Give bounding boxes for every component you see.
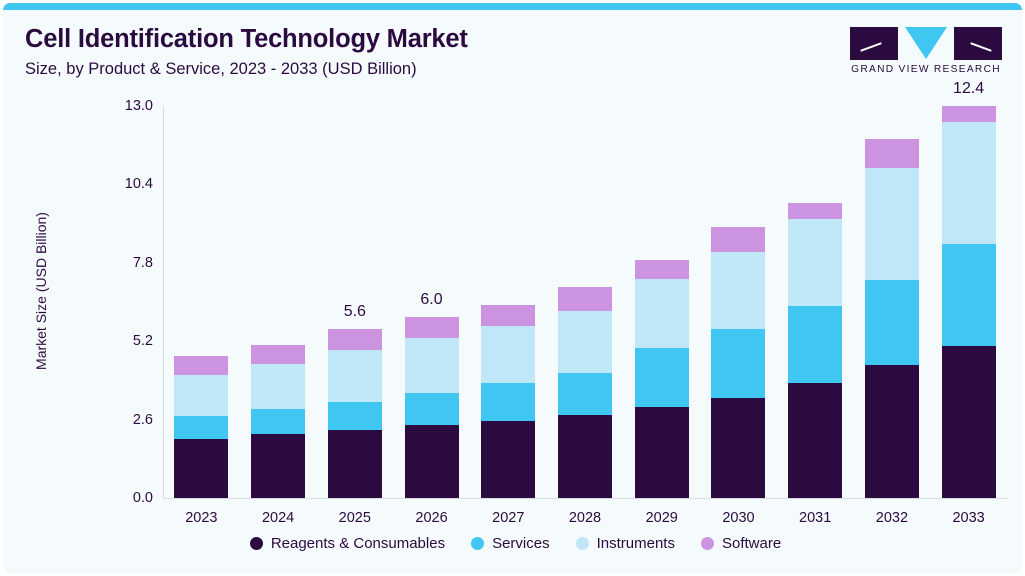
x-axis-tick-label: 2031 <box>775 510 855 526</box>
logo-text: GRAND VIEW RESEARCH <box>850 64 1002 75</box>
legend-label: Reagents & Consumables <box>271 535 445 552</box>
bar-segment[interactable] <box>481 305 535 326</box>
x-axis-tick-label: 2029 <box>622 510 702 526</box>
legend-item[interactable]: Instruments <box>576 535 675 552</box>
bar-segment[interactable] <box>405 393 459 425</box>
bar-segment[interactable] <box>711 398 765 498</box>
bar-segment[interactable] <box>942 346 996 498</box>
y-axis-tick-label: 2.6 <box>99 412 153 428</box>
legend-item[interactable]: Reagents & Consumables <box>250 535 445 552</box>
legend-color-swatch-icon <box>471 537 484 550</box>
chart-subtitle: Size, by Product & Service, 2023 - 2033 … <box>25 60 745 79</box>
bar-segment[interactable] <box>711 329 765 398</box>
x-axis-line <box>163 498 1007 499</box>
legend-color-swatch-icon <box>250 537 263 550</box>
logo-triangle-icon <box>905 27 947 59</box>
y-axis-tick-label: 7.8 <box>99 255 153 271</box>
bar-segment[interactable] <box>788 219 842 306</box>
bar-segment[interactable] <box>942 244 996 346</box>
bar-segment[interactable] <box>558 373 612 416</box>
bar-segment[interactable] <box>174 416 228 440</box>
y-axis-tick-labels: 0.02.65.27.810.413.0 <box>99 98 153 498</box>
bar-segment[interactable] <box>942 122 996 244</box>
bar-segment[interactable] <box>174 356 228 374</box>
x-axis-tick-label: 2024 <box>238 510 318 526</box>
bar-group[interactable] <box>788 203 842 499</box>
bar-segment[interactable] <box>481 421 535 498</box>
bar-segment[interactable] <box>635 260 689 280</box>
legend-label: Instruments <box>597 535 675 552</box>
bar-segment[interactable] <box>788 306 842 383</box>
bar-segment[interactable] <box>174 439 228 498</box>
x-axis-tick-label: 2033 <box>929 510 1009 526</box>
chart-legend: Reagents & ConsumablesServicesInstrument… <box>3 535 1025 552</box>
legend-color-swatch-icon <box>701 537 714 550</box>
bar-segment[interactable] <box>251 434 305 498</box>
bar-segment[interactable] <box>635 348 689 407</box>
x-axis-tick-label: 2030 <box>698 510 778 526</box>
bar-group[interactable] <box>558 287 612 498</box>
bar-segment[interactable] <box>405 338 459 393</box>
bar-group[interactable] <box>405 317 459 498</box>
legend-item[interactable]: Services <box>471 535 550 552</box>
bar-segment[interactable] <box>174 375 228 416</box>
bar-segment[interactable] <box>711 227 765 253</box>
bar-segment[interactable] <box>251 364 305 408</box>
logo-right-block-icon <box>954 27 1002 60</box>
bar-segment[interactable] <box>635 407 689 498</box>
bar-segment[interactable] <box>711 252 765 329</box>
x-axis-tick-label: 2027 <box>468 510 548 526</box>
plot-area: Market Size (USD Billion) 0.02.65.27.810… <box>3 98 1025 518</box>
bar-value-label: 6.0 <box>392 291 472 309</box>
legend-color-swatch-icon <box>576 537 589 550</box>
bar-segment[interactable] <box>328 350 382 402</box>
bar-segment[interactable] <box>481 326 535 383</box>
bar-value-label: 5.6 <box>315 303 395 321</box>
bar-group[interactable] <box>942 106 996 498</box>
bar-group[interactable] <box>865 139 919 498</box>
top-accent-bar <box>3 3 1025 10</box>
chart-card: Cell Identification Technology Market Si… <box>0 0 1025 576</box>
bar-segment[interactable] <box>558 415 612 498</box>
chart-title: Cell Identification Technology Market <box>25 25 745 54</box>
bar-segment[interactable] <box>328 329 382 350</box>
logo-left-block-icon <box>850 27 898 60</box>
x-axis-tick-label: 2025 <box>315 510 395 526</box>
bar-segment[interactable] <box>942 106 996 122</box>
bar-series-container: 5.66.012.4 <box>163 98 1007 498</box>
bar-segment[interactable] <box>405 317 459 338</box>
bar-segment[interactable] <box>788 383 842 498</box>
logo-marks <box>850 27 1002 60</box>
x-axis-tick-label: 2026 <box>392 510 472 526</box>
grand-view-research-logo: GRAND VIEW RESEARCH <box>850 27 1002 79</box>
bar-segment[interactable] <box>558 311 612 373</box>
bar-value-label: 12.4 <box>929 80 1009 98</box>
bar-group[interactable] <box>328 329 382 498</box>
x-axis-tick-label: 2032 <box>852 510 932 526</box>
legend-label: Services <box>492 535 550 552</box>
x-axis-tick-labels: 2023202420252026202720282029203020312032… <box>163 504 1007 534</box>
bar-segment[interactable] <box>251 409 305 434</box>
bar-segment[interactable] <box>635 279 689 347</box>
bar-segment[interactable] <box>251 345 305 364</box>
bar-segment[interactable] <box>865 365 919 498</box>
bar-segment[interactable] <box>865 168 919 280</box>
bar-group[interactable] <box>481 305 535 498</box>
y-axis-tick-label: 10.4 <box>99 176 153 192</box>
bar-segment[interactable] <box>405 425 459 498</box>
bar-segment[interactable] <box>328 430 382 498</box>
x-axis-tick-label: 2028 <box>545 510 625 526</box>
bar-group[interactable] <box>635 260 689 498</box>
chart-header: Cell Identification Technology Market Si… <box>25 25 745 79</box>
bar-segment[interactable] <box>865 139 919 168</box>
bar-segment[interactable] <box>558 287 612 311</box>
legend-item[interactable]: Software <box>701 535 781 552</box>
x-axis-tick-label: 2023 <box>161 510 241 526</box>
bar-segment[interactable] <box>788 203 842 220</box>
y-axis-title: Market Size (USD Billion) <box>33 161 49 421</box>
legend-label: Software <box>722 535 781 552</box>
bar-segment[interactable] <box>865 280 919 364</box>
bar-segment[interactable] <box>481 383 535 420</box>
y-axis-tick-label: 5.2 <box>99 333 153 349</box>
bar-group[interactable] <box>251 345 305 498</box>
y-axis-tick-label: 0.0 <box>99 490 153 506</box>
bar-group[interactable] <box>711 227 765 498</box>
bar-group[interactable] <box>174 356 228 498</box>
y-axis-tick-label: 13.0 <box>99 98 153 114</box>
bar-segment[interactable] <box>328 402 382 430</box>
